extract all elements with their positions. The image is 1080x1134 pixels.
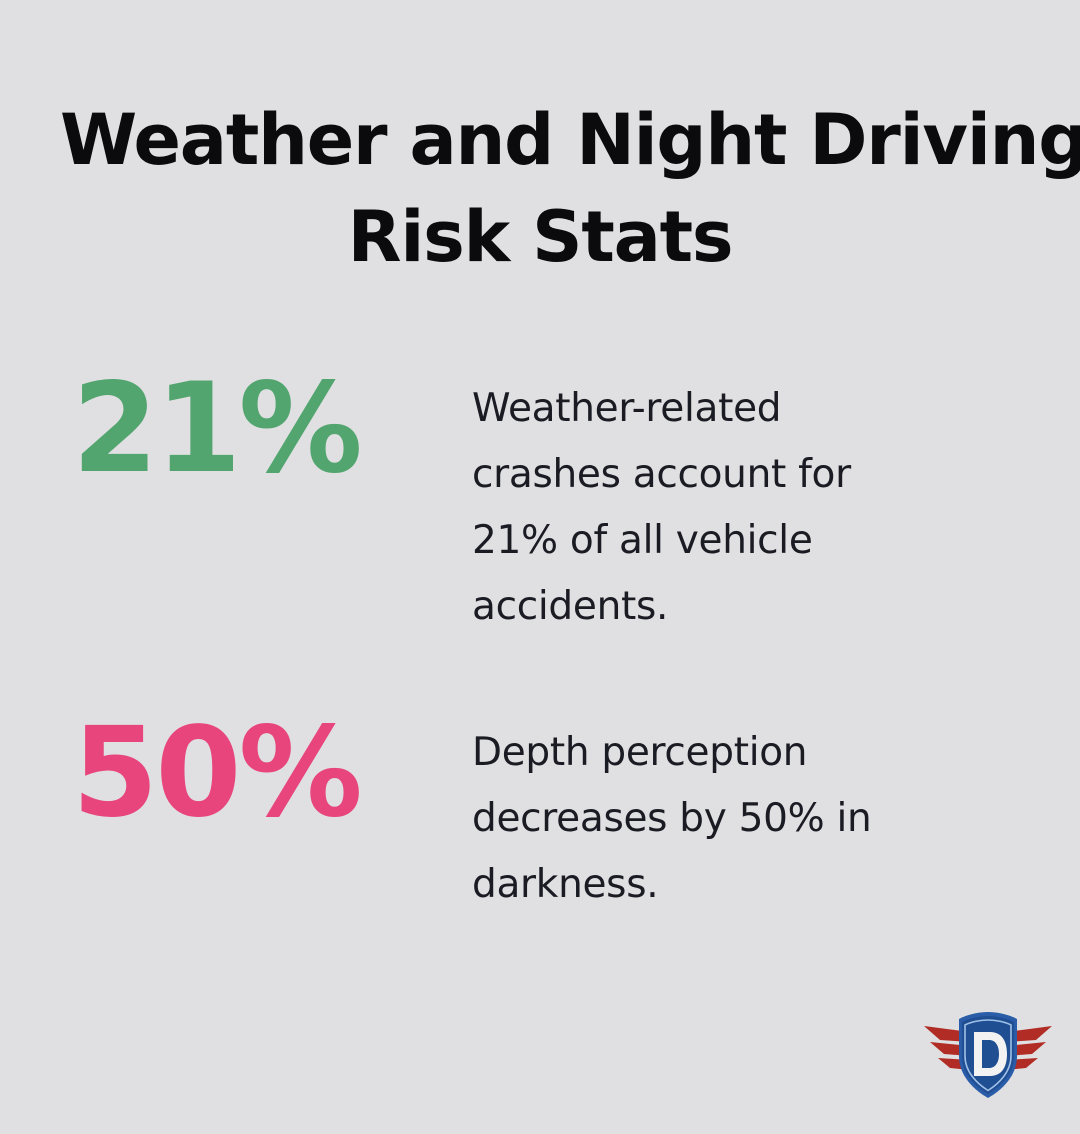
page-title-line-1: Weather and Night Driving	[60, 92, 1020, 189]
stat-value-21: 21%	[72, 362, 472, 496]
stat-description-50: Depth perception decreases by 50% in dar…	[472, 706, 912, 918]
page-title: Weather and Night Driving Risk Stats	[60, 92, 1020, 286]
stat-value-50: 50%	[72, 706, 472, 840]
infographic-canvas: Weather and Night Driving Risk Stats 21%…	[0, 0, 1080, 1134]
brand-logo	[918, 1006, 1058, 1102]
stat-row: 50% Depth perception decreases by 50% in…	[72, 706, 972, 918]
page-title-line-2: Risk Stats	[60, 189, 1020, 286]
stat-description-21: Weather-related crashes account for 21% …	[472, 362, 912, 640]
stat-row: 21% Weather-related crashes account for …	[72, 362, 972, 640]
